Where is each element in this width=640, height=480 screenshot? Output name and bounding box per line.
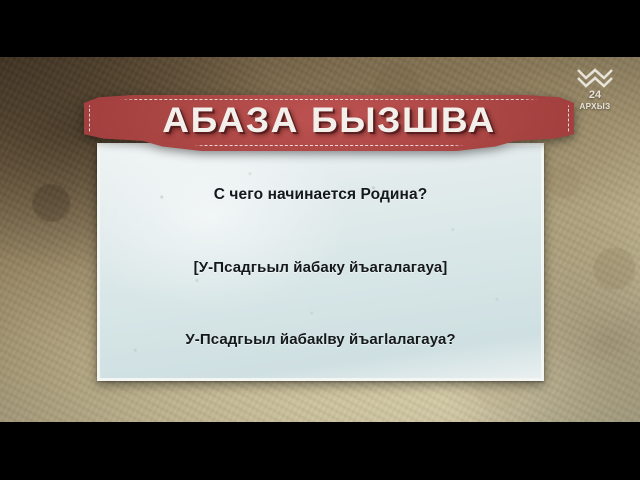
- question-lines: С чего начинается Родина? [У-Псадгьыл йа…: [100, 146, 541, 378]
- channel-name: АРХЫЗ: [580, 103, 611, 111]
- channel-number: 24: [589, 90, 601, 101]
- question-line-transliteration: [У-Псадгьыл йабаку йъагалагауа]: [100, 259, 541, 277]
- question-line-abaza: У-Псадгьыл йабакӏву йъагӏалагауа?: [100, 331, 541, 349]
- video-screen: С чего начинается Родина? [У-Псадгьыл йа…: [0, 0, 640, 480]
- letterbox-bar-bottom: [0, 422, 640, 480]
- logo-text-block: 24 АРХЫЗ: [580, 90, 611, 111]
- program-title-text: АБАЗА БЫЗШВА: [69, 95, 588, 151]
- program-title-banner: АБАЗА БЫЗШВА: [84, 95, 574, 151]
- channel-logo: 24 АРХЫЗ: [568, 66, 622, 112]
- letterbox-bar-top: [0, 0, 640, 57]
- question-line-russian: С чего начинается Родина?: [100, 186, 541, 205]
- subtitle-panel: С чего начинается Родина? [У-Псадгьыл йа…: [97, 143, 544, 381]
